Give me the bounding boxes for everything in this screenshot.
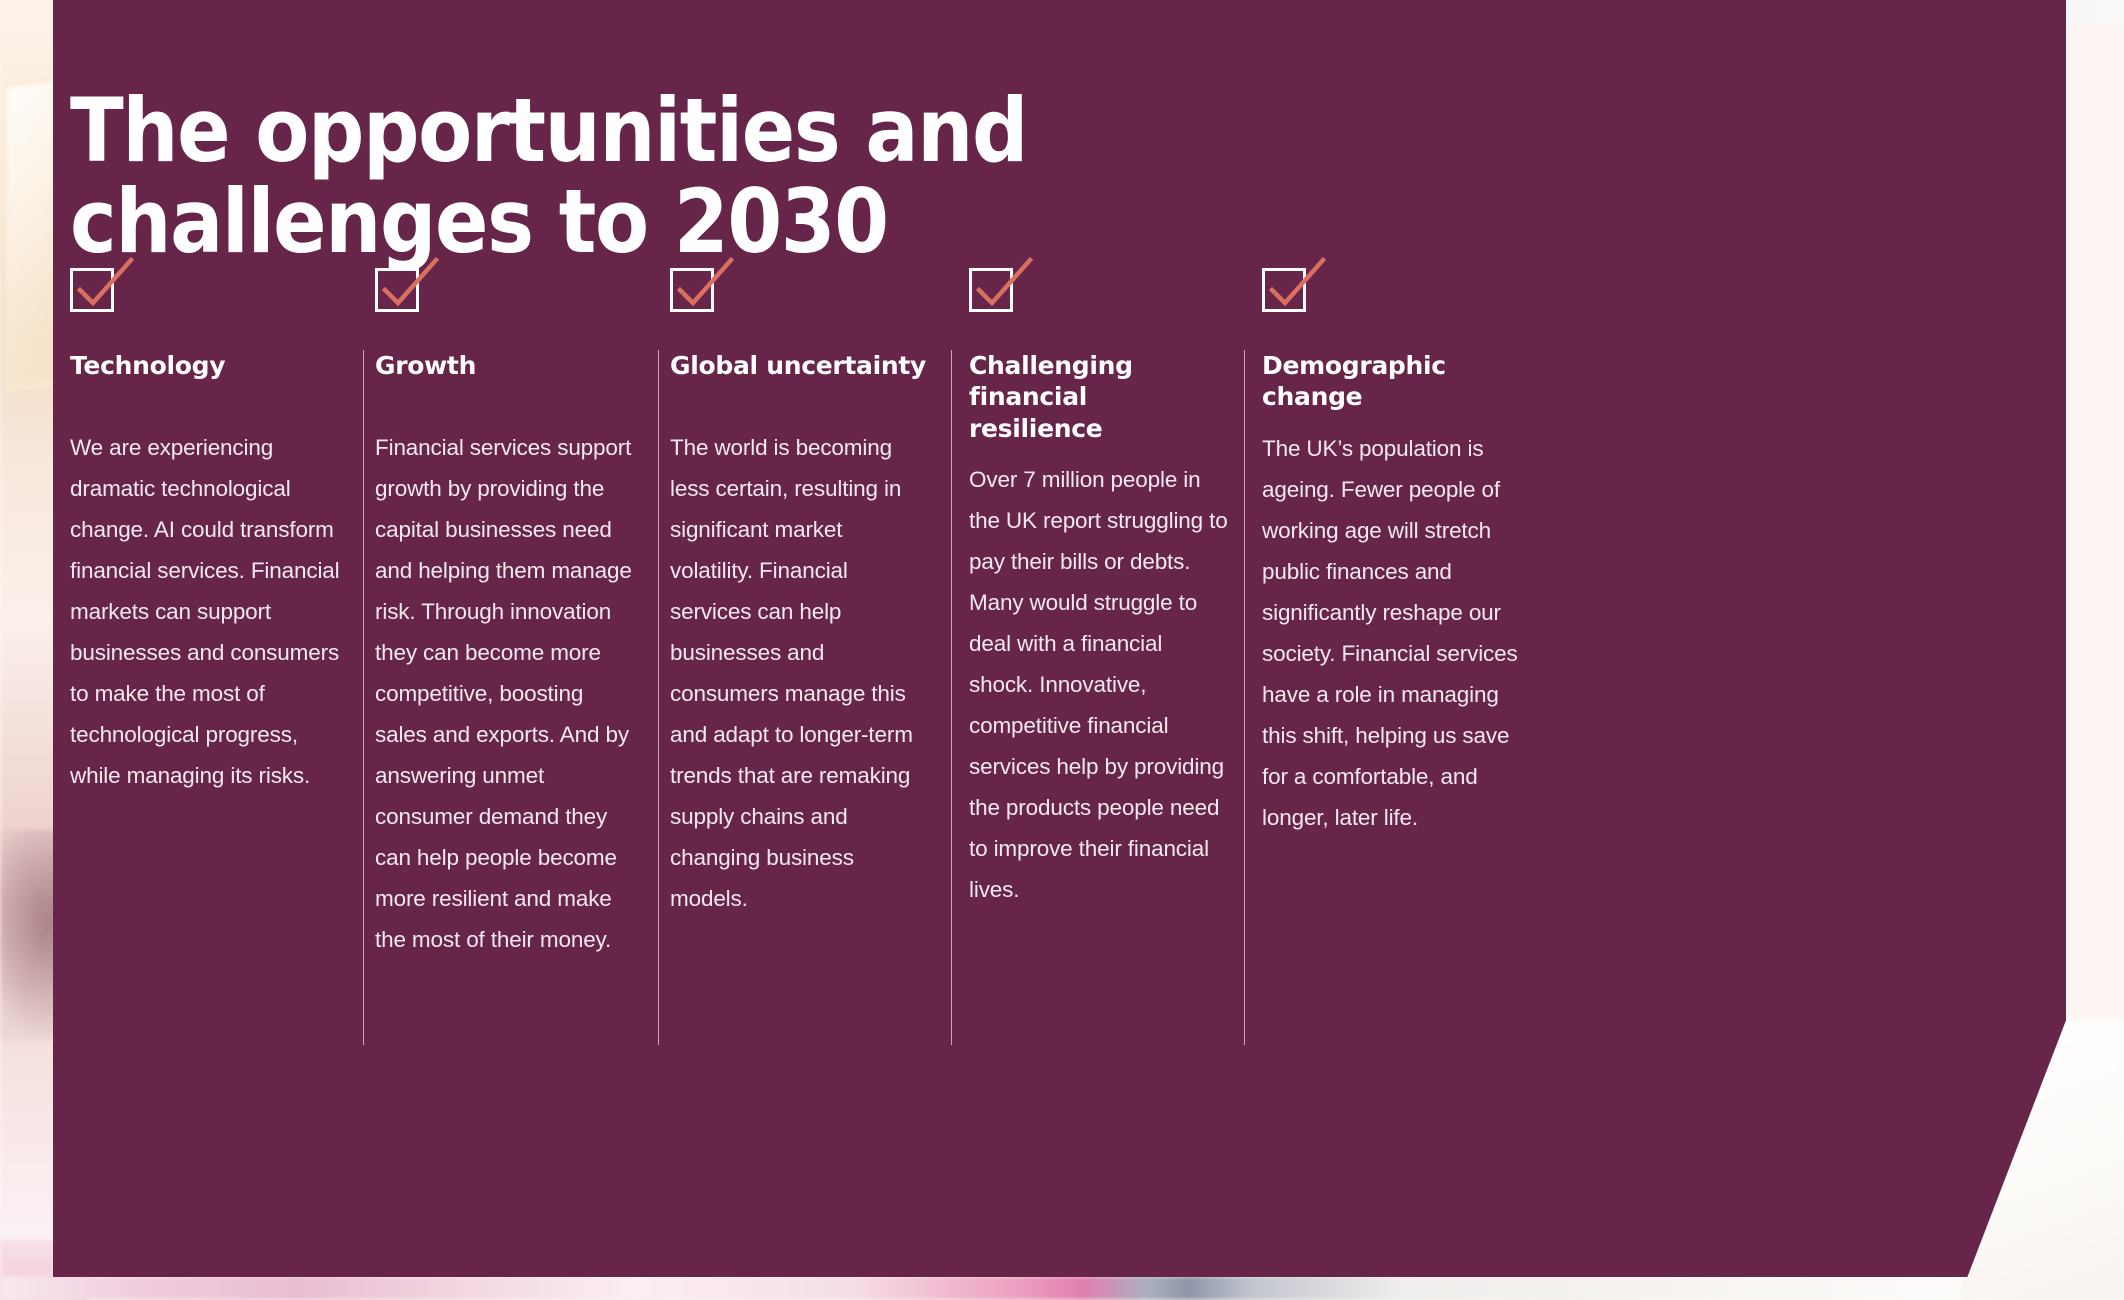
background-photo-bottom-strip — [0, 1276, 2124, 1300]
column-heading: Growth — [375, 350, 636, 381]
checkbox-checked-icon — [670, 258, 736, 314]
page-title-line-2: challenges to 2030 — [70, 176, 1234, 268]
column-heading: Global uncertainty — [670, 350, 929, 381]
column-body-text: The world is becoming less certain, resu… — [670, 427, 929, 919]
column-body-text: Financial services support growth by pro… — [375, 427, 636, 960]
column-challenging-financial-resilience: Challenging financial resilience Over 7 … — [951, 258, 1244, 910]
column-divider — [658, 350, 659, 1045]
checkbox-checked-icon — [969, 258, 1035, 314]
page-title-line-1: The opportunities and — [70, 85, 1234, 177]
checkbox-checked-icon — [70, 258, 136, 314]
column-global-uncertainty: Global uncertainty The world is becoming… — [658, 258, 951, 919]
column-heading: Challenging financial resilience — [969, 350, 1228, 444]
column-heading: Technology — [70, 350, 341, 381]
column-divider — [951, 350, 952, 1045]
page-title: The opportunities and challenges to 2030 — [70, 85, 1234, 268]
column-demographic-change: Demographic change The UK’s population i… — [1244, 258, 1534, 838]
column-technology: Technology We are experiencing dramatic … — [70, 258, 363, 796]
checkbox-checked-icon — [375, 258, 441, 314]
content-panel: The opportunities and challenges to 2030… — [53, 0, 2066, 1277]
column-heading: Demographic change — [1262, 350, 1524, 413]
column-growth: Growth Financial services support growth… — [363, 258, 658, 960]
columns-container: Technology We are experiencing dramatic … — [70, 258, 2030, 960]
checkbox-checked-icon — [1262, 258, 1328, 314]
column-divider — [1244, 350, 1245, 1045]
column-body-text: We are experiencing dramatic technologic… — [70, 427, 341, 796]
column-divider — [363, 350, 364, 1045]
column-body-text: Over 7 million people in the UK report s… — [969, 459, 1228, 910]
column-body-text: The UK’s population is ageing. Fewer peo… — [1262, 428, 1524, 838]
